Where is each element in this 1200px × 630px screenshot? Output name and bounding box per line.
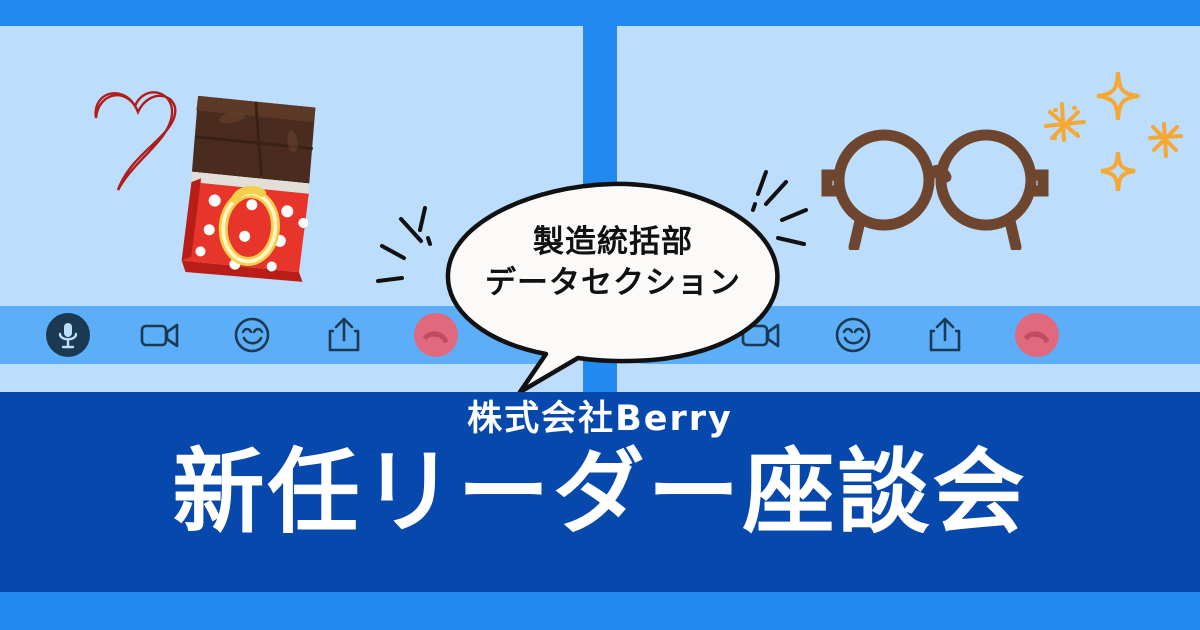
speech-bubble-line2: データセクション bbox=[438, 265, 788, 302]
video-camera-icon[interactable] bbox=[138, 313, 182, 357]
microphone-icon[interactable] bbox=[46, 313, 90, 357]
speech-bubble-text: 製造統括部 データセクション bbox=[438, 224, 788, 301]
smiley-face-icon[interactable] bbox=[230, 313, 274, 357]
speech-bubble: 製造統括部 データセクション bbox=[438, 178, 788, 398]
hangup-phone-icon[interactable] bbox=[1015, 313, 1059, 357]
share-upload-icon[interactable] bbox=[322, 313, 366, 357]
chocolate-bar-illustration bbox=[150, 70, 360, 290]
speech-bubble-line1: 製造統括部 bbox=[438, 224, 788, 261]
company-name: 株式会社Berry bbox=[467, 400, 733, 439]
sparkles-icon bbox=[1040, 60, 1200, 200]
title-banner: 株式会社Berry 新任リーダー座談会 bbox=[0, 392, 1200, 592]
share-upload-icon[interactable] bbox=[923, 313, 967, 357]
smiley-face-icon[interactable] bbox=[831, 313, 875, 357]
round-glasses-illustration bbox=[810, 125, 1060, 250]
poster-canvas: 製造統括部 データセクション 株式会社Berry 新任リーダー座談会 bbox=[0, 0, 1200, 630]
bottom-accent-strip bbox=[0, 592, 1200, 630]
page-title: 新任リーダー座談会 bbox=[172, 441, 1027, 544]
